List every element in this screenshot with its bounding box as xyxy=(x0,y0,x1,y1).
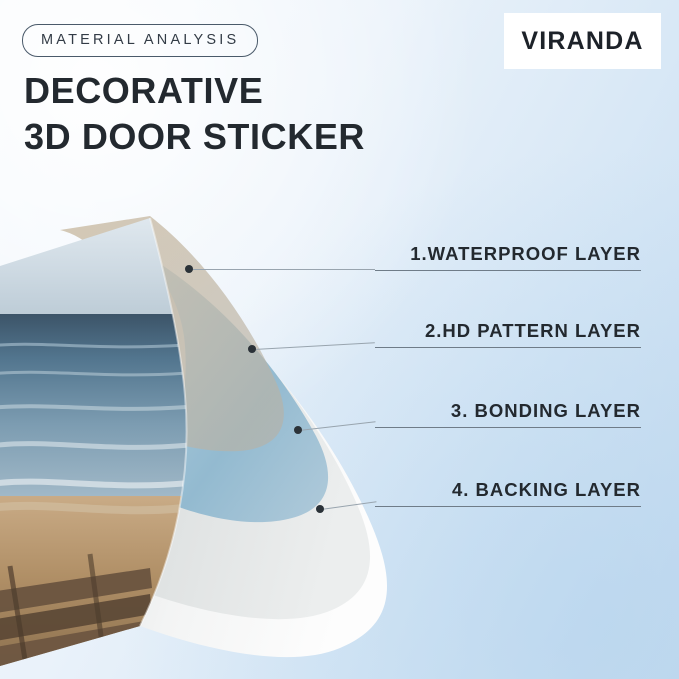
callout-backing: 4. BACKING LAYER xyxy=(375,479,641,507)
callout-rule-hd-pattern xyxy=(375,347,641,348)
callout-rule-bonding xyxy=(375,427,641,428)
title-line-2: 3D DOOR STICKER xyxy=(24,114,365,160)
callout-rule-waterproof xyxy=(375,270,641,271)
eyebrow-badge: MATERIAL ANALYSIS xyxy=(22,24,258,57)
lead-dot-hd-pattern xyxy=(248,345,256,353)
callout-label-backing: 4. BACKING LAYER xyxy=(375,479,641,506)
lead-dot-bonding xyxy=(294,426,302,434)
brand-logo-box: VIRANDA xyxy=(504,13,661,69)
title-line-1: DECORATIVE xyxy=(24,68,365,114)
callout-label-bonding: 3. BONDING LAYER xyxy=(375,400,641,427)
callout-rule-backing xyxy=(375,506,641,507)
callout-hd-pattern: 2.HD PATTERN LAYER xyxy=(375,320,641,348)
poster-root: MATERIAL ANALYSIS DECORATIVE 3D DOOR STI… xyxy=(0,0,679,679)
callout-label-hd-pattern: 2.HD PATTERN LAYER xyxy=(375,320,641,347)
page-title: DECORATIVE 3D DOOR STICKER xyxy=(24,68,365,159)
lead-dot-backing xyxy=(316,505,324,513)
callout-waterproof: 1.WATERPROOF LAYER xyxy=(375,243,641,271)
brand-name: VIRANDA xyxy=(521,27,643,56)
lead-dot-waterproof xyxy=(185,265,193,273)
callout-label-waterproof: 1.WATERPROOF LAYER xyxy=(375,243,641,270)
lead-line-waterproof xyxy=(189,269,375,270)
callout-bonding: 3. BONDING LAYER xyxy=(375,400,641,428)
